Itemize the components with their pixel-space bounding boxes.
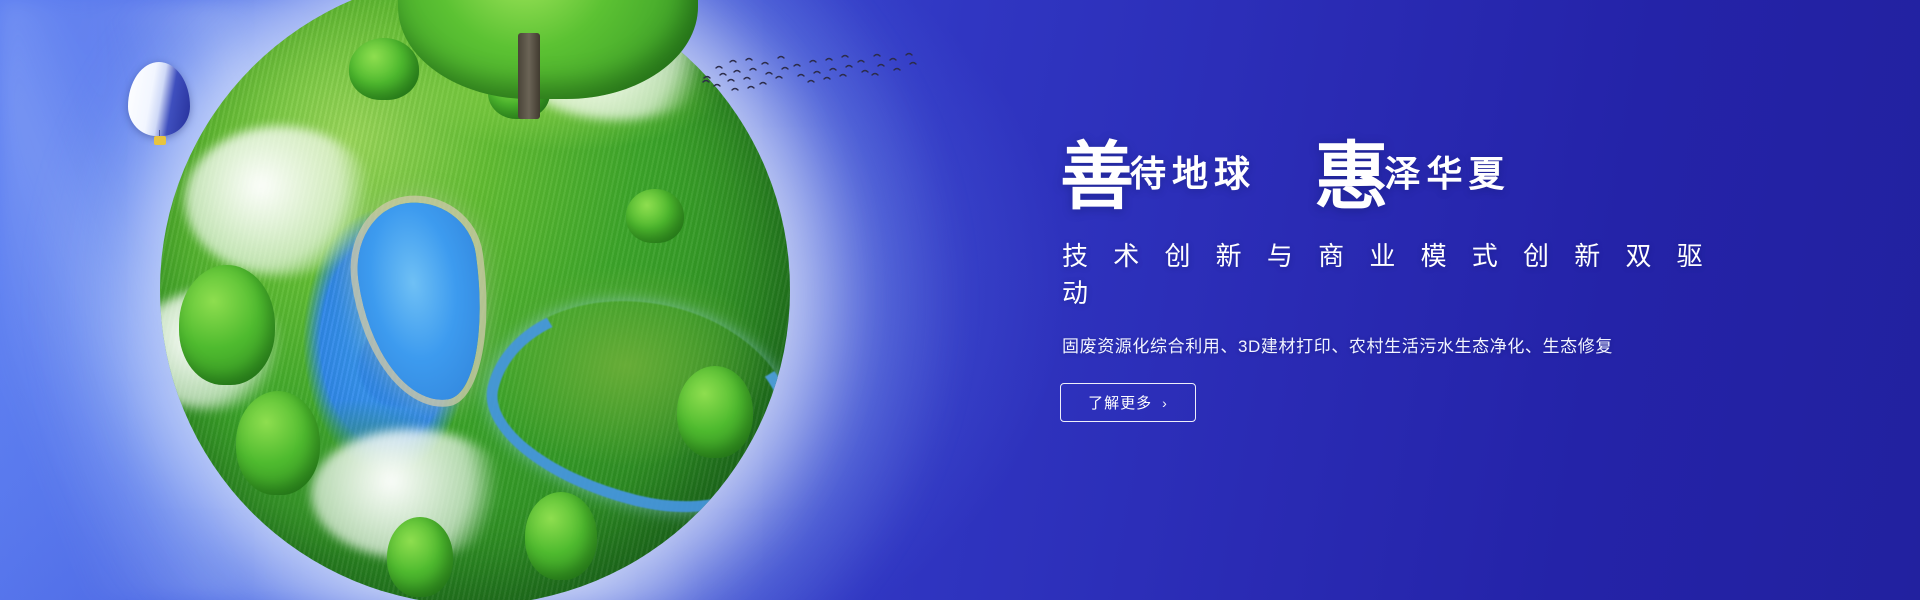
banner-description: 固废资源化综合利用、3D建材打印、农村生活污水生态净化、生态修复 <box>1062 332 1760 357</box>
tree-icon <box>626 189 684 243</box>
tree-icon <box>387 517 453 597</box>
hero-banner: 善待地球 惠泽华夏 技 术 创 新 与 商 业 模 式 创 新 双 驱 动 固废… <box>0 0 1920 600</box>
tree-icon <box>525 492 597 580</box>
hot-air-balloon-icon <box>128 62 190 136</box>
balloon-envelope <box>128 62 190 136</box>
headline-small-text-2: 泽华夏 <box>1384 153 1510 195</box>
large-tree-trunk-icon <box>518 33 540 119</box>
balloon-basket <box>154 136 166 145</box>
banner-content: 善待地球 惠泽华夏 技 术 创 新 与 商 业 模 式 创 新 双 驱 动 固废… <box>1060 140 1760 422</box>
chevron-right-icon: › <box>1162 395 1168 411</box>
cloud-icon <box>185 126 375 276</box>
learn-more-button[interactable]: 了解更多 › <box>1060 383 1196 422</box>
globe-illustration <box>160 0 790 600</box>
learn-more-label: 了解更多 <box>1088 392 1152 413</box>
headline-big-char-1: 善 <box>1060 134 1134 220</box>
headline-part-1: 善待地球 <box>1060 140 1256 214</box>
tree-icon <box>349 38 419 100</box>
tree-icon <box>677 366 753 458</box>
headline-big-char-2: 惠 <box>1314 134 1388 220</box>
page-title: 善待地球 惠泽华夏 <box>1060 140 1760 222</box>
headline-small-text-1: 待地球 <box>1130 153 1256 195</box>
headline-part-2: 惠泽华夏 <box>1314 140 1510 214</box>
bird-flock-icon <box>700 48 920 102</box>
tree-icon <box>236 391 320 495</box>
banner-subtitle: 技 术 创 新 与 商 业 模 式 创 新 双 驱 动 <box>1062 236 1760 310</box>
tree-icon <box>179 265 275 385</box>
